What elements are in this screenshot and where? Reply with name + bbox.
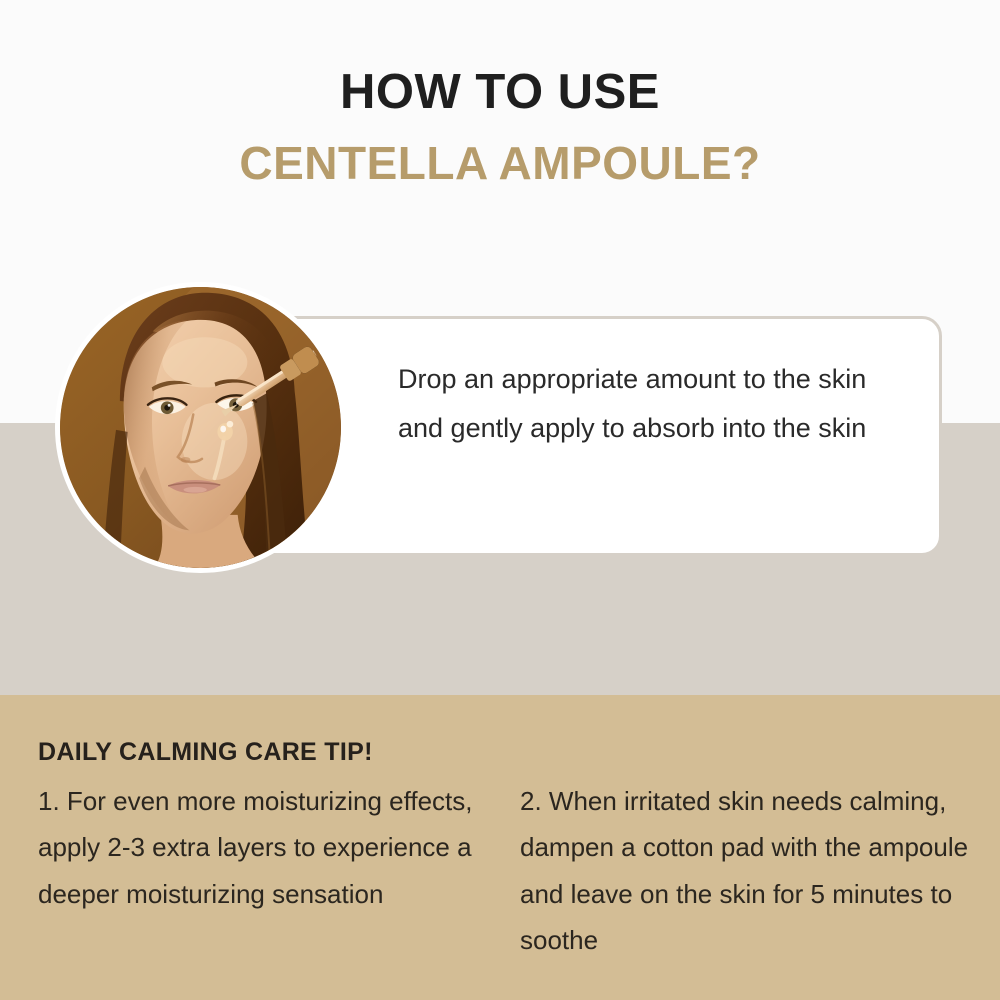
page-title-secondary: CENTELLA AMPOULE?	[0, 140, 1000, 186]
model-photo-circle	[55, 282, 346, 573]
portrait-photo-icon	[60, 287, 341, 568]
instruction-card-text: Drop an appropriate amount to the skin a…	[398, 355, 903, 454]
page-header: HOW TO USE CENTELLA AMPOULE?	[0, 0, 1000, 186]
tips-heading: DAILY CALMING CARE TIP!	[38, 738, 373, 767]
tip-item-2: 2. When irritated skin needs calming, da…	[520, 778, 980, 963]
daily-care-tips-section: DAILY CALMING CARE TIP! 1. For even more…	[0, 695, 1000, 1000]
tip-item-1: 1. For even more moisturizing effects, a…	[38, 778, 493, 917]
page-title-primary: HOW TO USE	[0, 68, 1000, 117]
infographic-page: HOW TO USE CENTELLA AMPOULE? Drop an app…	[0, 0, 1000, 1000]
